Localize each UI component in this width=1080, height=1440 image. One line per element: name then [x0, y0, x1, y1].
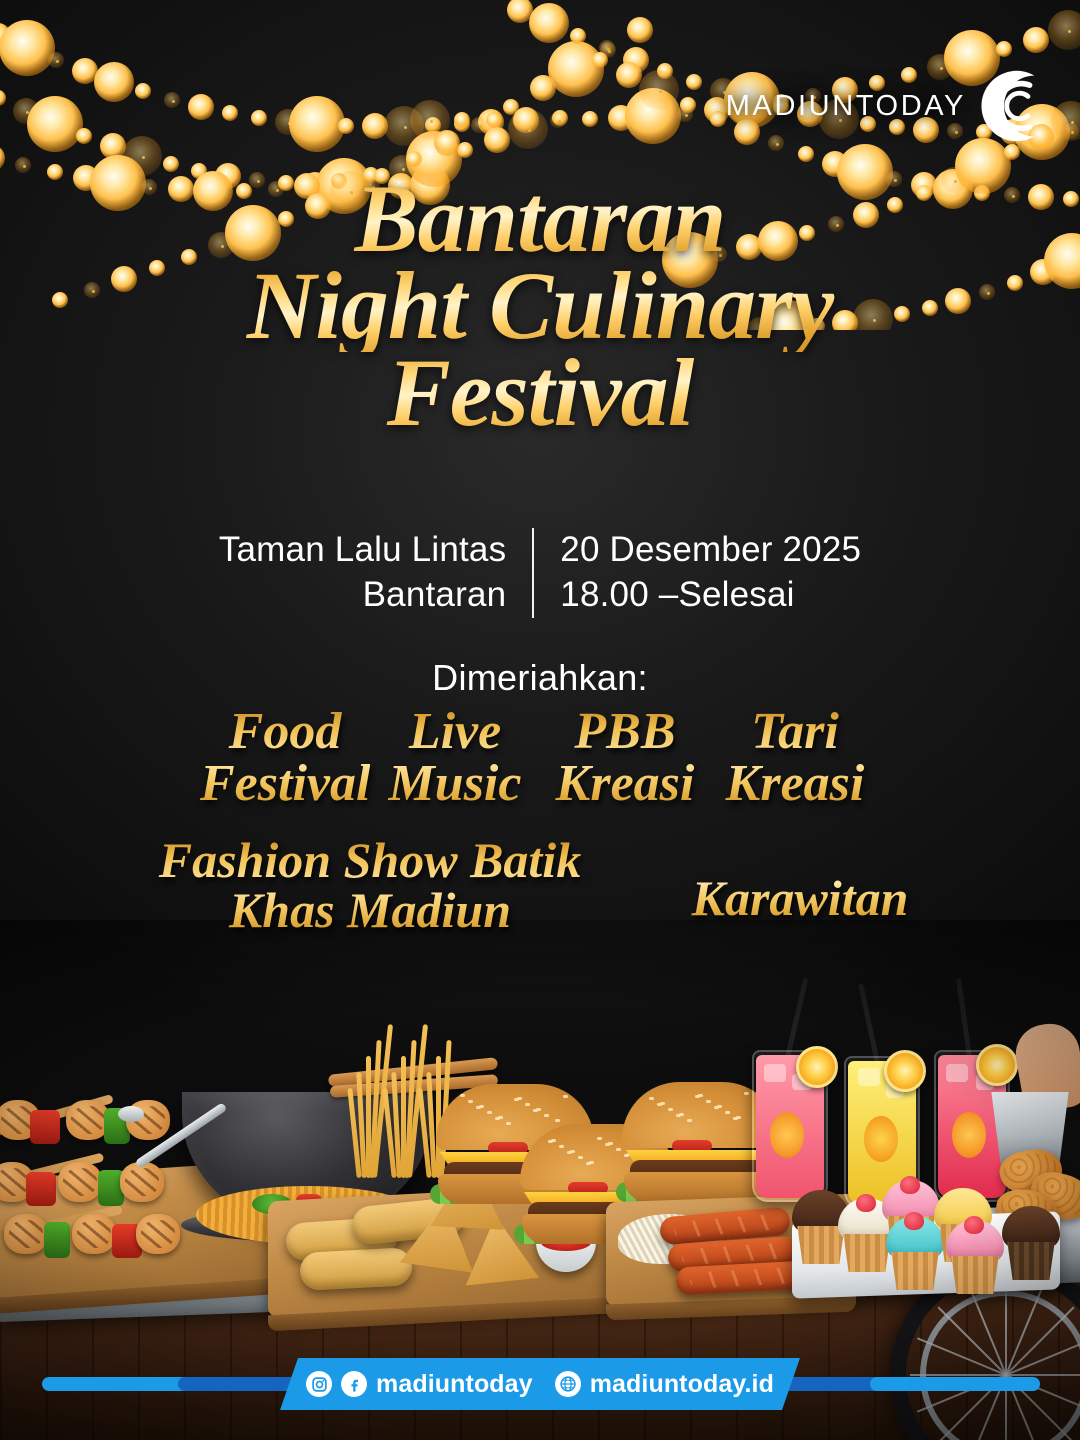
light-bulb — [1004, 144, 1020, 160]
light-bulb — [0, 90, 6, 106]
venue-line-1: Taman Lalu Lintas — [219, 528, 506, 573]
citrus-slice-in-drink — [864, 1116, 898, 1162]
sesame-seed — [649, 1097, 654, 1100]
sesame-seed — [487, 1111, 492, 1114]
lemon-slice-rim — [796, 1046, 838, 1088]
footer-social-bar: madiuntoday madiuntoday.id — [0, 1362, 1080, 1406]
light-bulb — [680, 97, 696, 113]
light-bulb — [338, 118, 354, 134]
sesame-seed — [657, 1103, 662, 1106]
satay-ball — [58, 1162, 102, 1202]
brand-logo: MADIUNTODAY — [726, 66, 1052, 146]
sesame-seed — [548, 1140, 553, 1143]
sesame-seed — [668, 1108, 673, 1111]
lemon-slice-rim — [976, 1044, 1018, 1086]
sesame-seed — [733, 1117, 738, 1120]
globe-icon[interactable] — [555, 1371, 581, 1397]
raspberry-topping — [856, 1194, 876, 1212]
sesame-seed — [506, 1122, 511, 1125]
sesame-seed — [744, 1092, 749, 1095]
light-bulb — [548, 41, 604, 97]
light-bulb — [513, 107, 539, 133]
cupcake-liner — [1004, 1242, 1058, 1280]
lineup-row-1: Food Festival Live Music PBB Kreasi Tari… — [0, 706, 1080, 810]
sesame-seed — [544, 1114, 549, 1117]
light-bulb — [27, 96, 83, 152]
cupcake-liner — [948, 1256, 1002, 1294]
cupcake — [1000, 1206, 1062, 1280]
satay-ball — [136, 1214, 180, 1254]
light-bulb — [0, 145, 5, 171]
datetime-block: 20 Desember 2025 18.00 –Selesai — [534, 528, 861, 618]
light-bulb — [76, 128, 92, 144]
instagram-icon[interactable] — [306, 1371, 332, 1397]
lineup-item: PBB Kreasi — [540, 706, 710, 810]
sesame-seed — [578, 1156, 583, 1159]
bell-pepper-red — [26, 1172, 56, 1206]
ice-cube — [858, 1068, 880, 1086]
sesame-seeds — [460, 1094, 570, 1128]
sesame-seeds — [646, 1092, 756, 1126]
event-date: 20 Desember 2025 — [560, 528, 861, 573]
sesame-seed — [468, 1100, 473, 1103]
lemon-slice-rim — [884, 1050, 926, 1092]
lineup-item-fashion-show: Fashion Show Batik Khas Madiun — [110, 835, 630, 935]
sesame-seed — [597, 1137, 602, 1140]
light-bulb — [592, 52, 608, 68]
light-bulb — [996, 41, 1012, 57]
website-text: madiuntoday.id — [590, 1370, 774, 1399]
brand-logo-text: MADIUNTODAY — [726, 90, 966, 123]
light-bulb — [616, 62, 642, 88]
sesame-seed — [687, 1119, 692, 1122]
raspberry-topping — [900, 1176, 920, 1194]
crescent-swoosh-icon — [972, 66, 1052, 146]
citrus-slice-in-drink — [770, 1112, 804, 1158]
social-banner: madiuntoday madiuntoday.id — [276, 1358, 804, 1410]
title-line-3: Festival — [0, 346, 1080, 439]
light-bulb — [164, 92, 180, 108]
satay-ball — [4, 1214, 48, 1254]
light-bulb — [484, 127, 510, 153]
lineup-header: Dimeriahkan: — [0, 657, 1080, 699]
sesame-seed — [616, 1148, 621, 1151]
cupcake-frosting — [1002, 1206, 1060, 1248]
lineup-row-2: Fashion Show Batik Khas Madiun Karawitan — [0, 835, 1080, 935]
light-bulb — [410, 100, 450, 140]
sesame-seed — [476, 1106, 481, 1109]
light-bulb — [471, 117, 487, 133]
light-bulb — [798, 146, 814, 162]
raspberry-topping — [904, 1212, 924, 1230]
raspberry-topping — [964, 1216, 984, 1234]
sesame-seed — [695, 1095, 700, 1098]
light-bulb — [289, 96, 345, 152]
sesame-seed — [714, 1106, 719, 1109]
sesame-seed — [460, 1094, 465, 1097]
serving-spoon-bowl — [118, 1106, 144, 1122]
cupcake — [944, 1220, 1006, 1294]
light-bulb — [710, 111, 726, 127]
light-bulb — [94, 62, 134, 102]
social-handle-text: madiuntoday — [376, 1370, 533, 1399]
sesame-seed — [514, 1098, 519, 1101]
light-bulb — [627, 17, 653, 43]
light-bulb — [222, 105, 238, 121]
website-group[interactable]: madiuntoday.id — [555, 1370, 774, 1399]
sesame-seed — [555, 1119, 560, 1122]
satay-ball — [120, 1162, 164, 1202]
sesame-seed — [706, 1100, 711, 1103]
poster-title: Bantaran Night Culinary Festival — [0, 172, 1080, 439]
sesame-seed — [605, 1143, 610, 1146]
lineup-item-line2: Kreasi — [710, 758, 880, 810]
lineup-item-line2: Kreasi — [540, 758, 710, 810]
sesame-seed — [533, 1109, 538, 1112]
facebook-icon[interactable] — [341, 1371, 367, 1397]
lineup-item: Tari Kreasi — [710, 706, 880, 810]
sesame-seed — [563, 1095, 568, 1098]
social-handle-group[interactable]: madiuntoday — [306, 1370, 533, 1399]
sesame-seed — [525, 1103, 530, 1106]
light-bulb — [163, 156, 179, 172]
lineup-item-line2: Music — [370, 758, 540, 810]
footer-bar-segment-right-light — [870, 1377, 1040, 1391]
poster-canvas: MADIUNTODAY Bantaran Night Culinary Fest… — [0, 0, 1080, 1440]
sesame-seed — [725, 1111, 730, 1114]
light-bulb — [251, 110, 267, 126]
lineup-item-line1: Live — [409, 703, 501, 760]
citrus-slice-in-drink — [952, 1112, 986, 1158]
light-bulb — [15, 157, 31, 173]
lineup-item-line2: Festival — [200, 758, 370, 810]
light-bulb — [639, 70, 679, 110]
lineup-item-line1: Tari — [751, 703, 839, 760]
light-bulb — [135, 83, 151, 99]
light-bulb — [1023, 27, 1049, 53]
venue-block: Taman Lalu Lintas Bantaran — [219, 528, 532, 618]
event-time: 18.00 –Selesai — [560, 573, 861, 618]
light-bulb — [48, 52, 64, 68]
lineup-item-line1: Fashion Show — [159, 832, 458, 888]
lineup-item-line1: Food — [229, 703, 342, 760]
spring-roll — [299, 1247, 413, 1291]
lineup-item-karawitan: Karawitan — [630, 835, 970, 923]
ice-cube — [764, 1064, 786, 1082]
lineup-label: Dimeriahkan: — [0, 657, 1080, 699]
sesame-seed — [586, 1162, 591, 1165]
satay-ball — [72, 1214, 116, 1254]
sesame-seed — [567, 1151, 572, 1154]
light-bulb — [529, 3, 569, 43]
bell-pepper-red — [30, 1110, 60, 1144]
light-bulb — [582, 111, 598, 127]
venue-line-2: Bantaran — [219, 573, 506, 618]
sesame-seed — [495, 1117, 500, 1120]
bell-pepper-green — [44, 1222, 70, 1258]
light-bulb — [1048, 10, 1080, 50]
light-bulb — [0, 20, 55, 76]
light-bulb — [570, 28, 586, 44]
event-details: Taman Lalu Lintas Bantaran 20 Desember 2… — [0, 528, 1080, 618]
lineup-item: Food Festival — [200, 706, 370, 810]
light-bulb — [188, 94, 214, 120]
lineup-item: Live Music — [370, 706, 540, 810]
light-bulb — [686, 74, 702, 90]
ice-cube — [946, 1064, 968, 1082]
sesame-seed — [559, 1145, 564, 1148]
sesame-seed — [676, 1114, 681, 1117]
lineup-item-line1: PBB — [574, 703, 675, 760]
light-bulb — [550, 112, 566, 128]
